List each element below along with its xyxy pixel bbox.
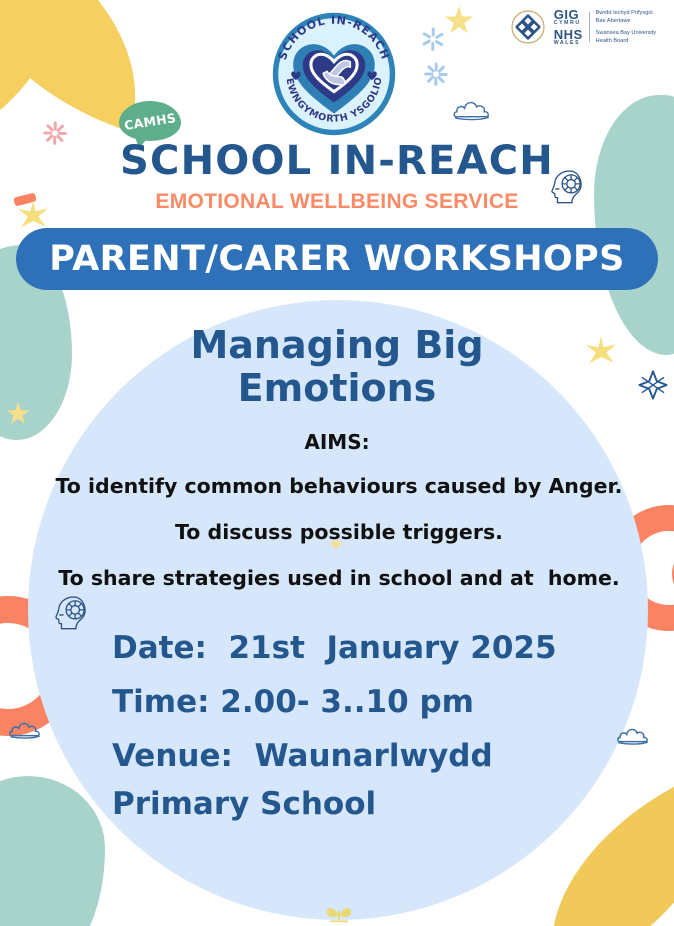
page-subtitle: EMOTIONAL WELLBEING SERVICE — [0, 190, 674, 214]
event-venue-line1: Venue: Waunarlwydd — [112, 738, 644, 774]
parent-carer-workshops-banner: PARENT/CARER WORKSHOPS — [16, 228, 658, 290]
event-details: Date: 21st January 2025 Time: 2.00- 3..1… — [112, 630, 644, 840]
page-title: SCHOOL IN-REACH — [0, 138, 674, 184]
event-venue-line2: Primary School — [112, 786, 644, 822]
list-item: To share strategies used in school and a… — [20, 566, 658, 590]
aims-label: AIMS: — [0, 430, 674, 454]
poster-content: SCHOOL IN-REACH EMOTIONAL WELLBEING SERV… — [0, 0, 674, 926]
poster-canvas: SCHOOL IN-REACH MEWNGYMORTH YSGOLION — [0, 0, 674, 926]
list-item: To identify common behaviours caused by … — [20, 474, 658, 498]
event-date: Date: 21st January 2025 — [112, 630, 644, 666]
banner-label: PARENT/CARER WORKSHOPS — [49, 239, 624, 279]
aims-list: To identify common behaviours caused by … — [20, 474, 658, 612]
list-item: To discuss possible triggers. — [20, 520, 658, 544]
workshop-title: Managing Big Emotions — [0, 324, 674, 409]
event-time: Time: 2.00- 3..10 pm — [112, 684, 644, 720]
